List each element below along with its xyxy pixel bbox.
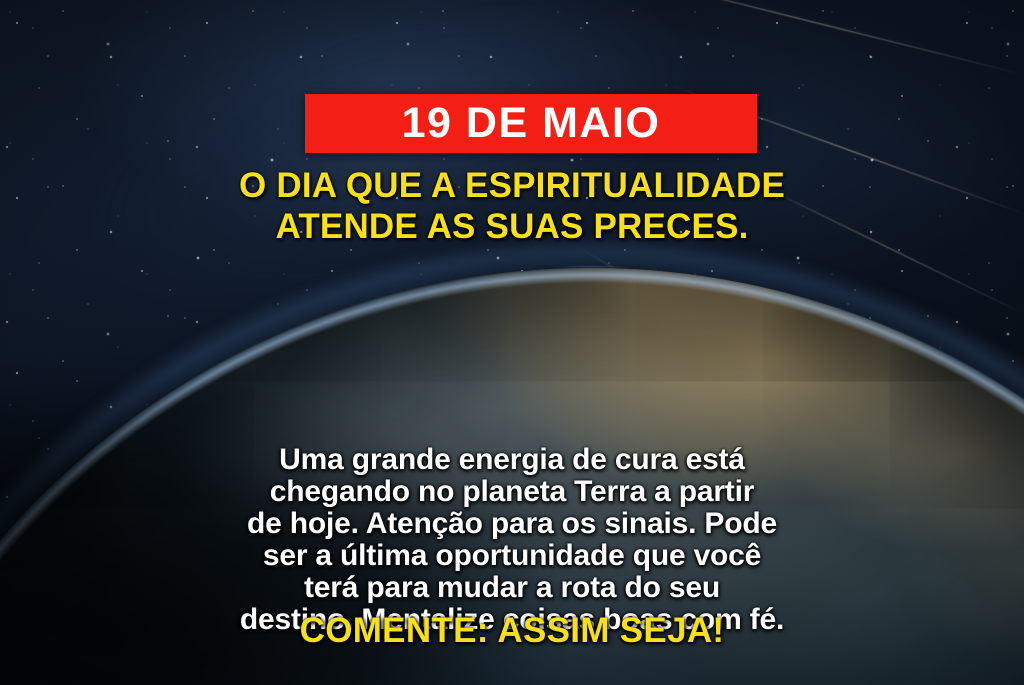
headline-line-2: ATENDE AS SUAS PRECES. xyxy=(0,207,1024,248)
headline: O DIA QUE A ESPIRITUALIDADE ATENDE AS SU… xyxy=(0,166,1024,248)
date-banner: 19 DE MAIO xyxy=(305,94,757,153)
body-copy-line-4: ser a última oportunidade que você xyxy=(40,540,984,572)
poster-canvas: 19 DE MAIO O DIA QUE A ESPIRITUALIDADE A… xyxy=(0,0,1024,685)
body-copy-line-5: terá para mudar a rota do seu xyxy=(40,572,984,604)
body-copy-line-3: de hoje. Atenção para os sinais. Pode xyxy=(40,508,984,540)
body-copy-line-2: chegando no planeta Terra a partir xyxy=(40,476,984,508)
headline-line-1: O DIA QUE A ESPIRITUALIDADE xyxy=(0,166,1024,207)
body-copy: Uma grande energia de cura está chegando… xyxy=(40,444,984,636)
body-copy-line-1: Uma grande energia de cura está xyxy=(40,444,984,476)
call-to-action-text: COMENTE: ASSIM SEJA! xyxy=(0,612,1024,651)
date-banner-text: 19 DE MAIO xyxy=(402,102,661,145)
